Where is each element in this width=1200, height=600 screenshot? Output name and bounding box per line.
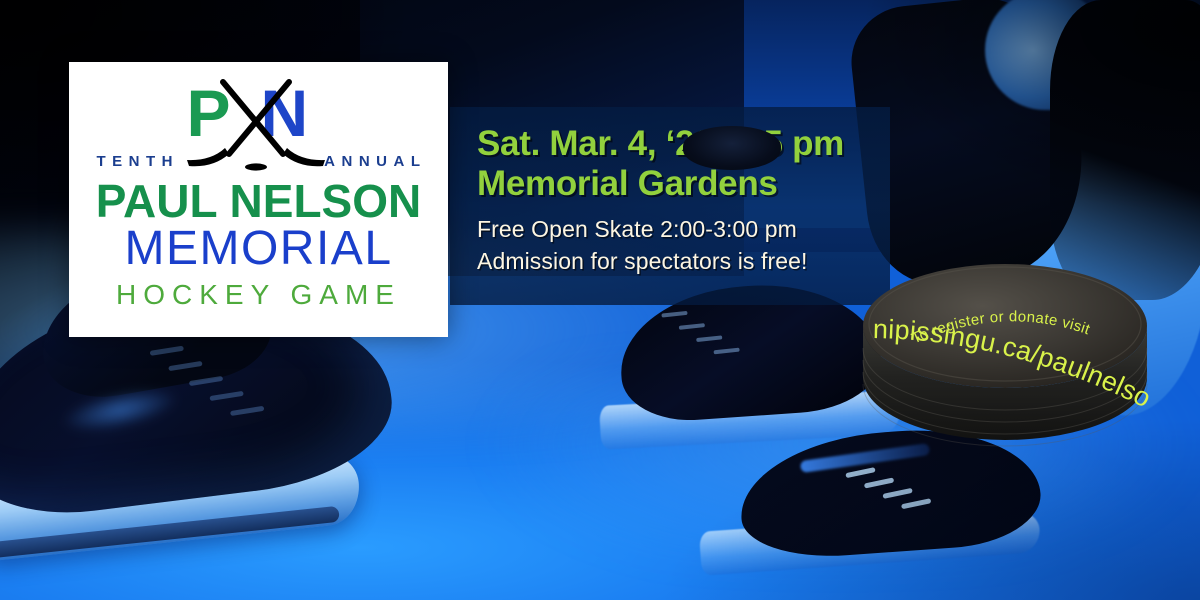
annual-row: TENTH ANNUAL — [89, 150, 429, 172]
annual-left-label: TENTH — [89, 153, 180, 170]
hockey-puck: To register or donate visit nipissingu.c… — [855, 228, 1155, 453]
promo-banner: P N TENTH ANNUAL PAUL NELSON MEMORIAL HO… — [0, 0, 1200, 600]
puck-graphic: To register or donate visit nipissingu.c… — [855, 228, 1155, 453]
logo-event-line: HOCKEY GAME — [116, 279, 401, 311]
event-venue: Memorial Gardens — [477, 164, 957, 204]
headline-date: Sat. Mar. 4, ‘23 — [477, 124, 713, 163]
logo-memorial-line: MEMORIAL — [124, 224, 392, 275]
mini-puck-icon — [683, 126, 781, 170]
annual-right-label: ANNUAL — [324, 153, 428, 170]
logo-name-line: PAUL NELSON — [96, 178, 421, 226]
logo-card: P N TENTH ANNUAL PAUL NELSON MEMORIAL HO… — [69, 62, 448, 337]
